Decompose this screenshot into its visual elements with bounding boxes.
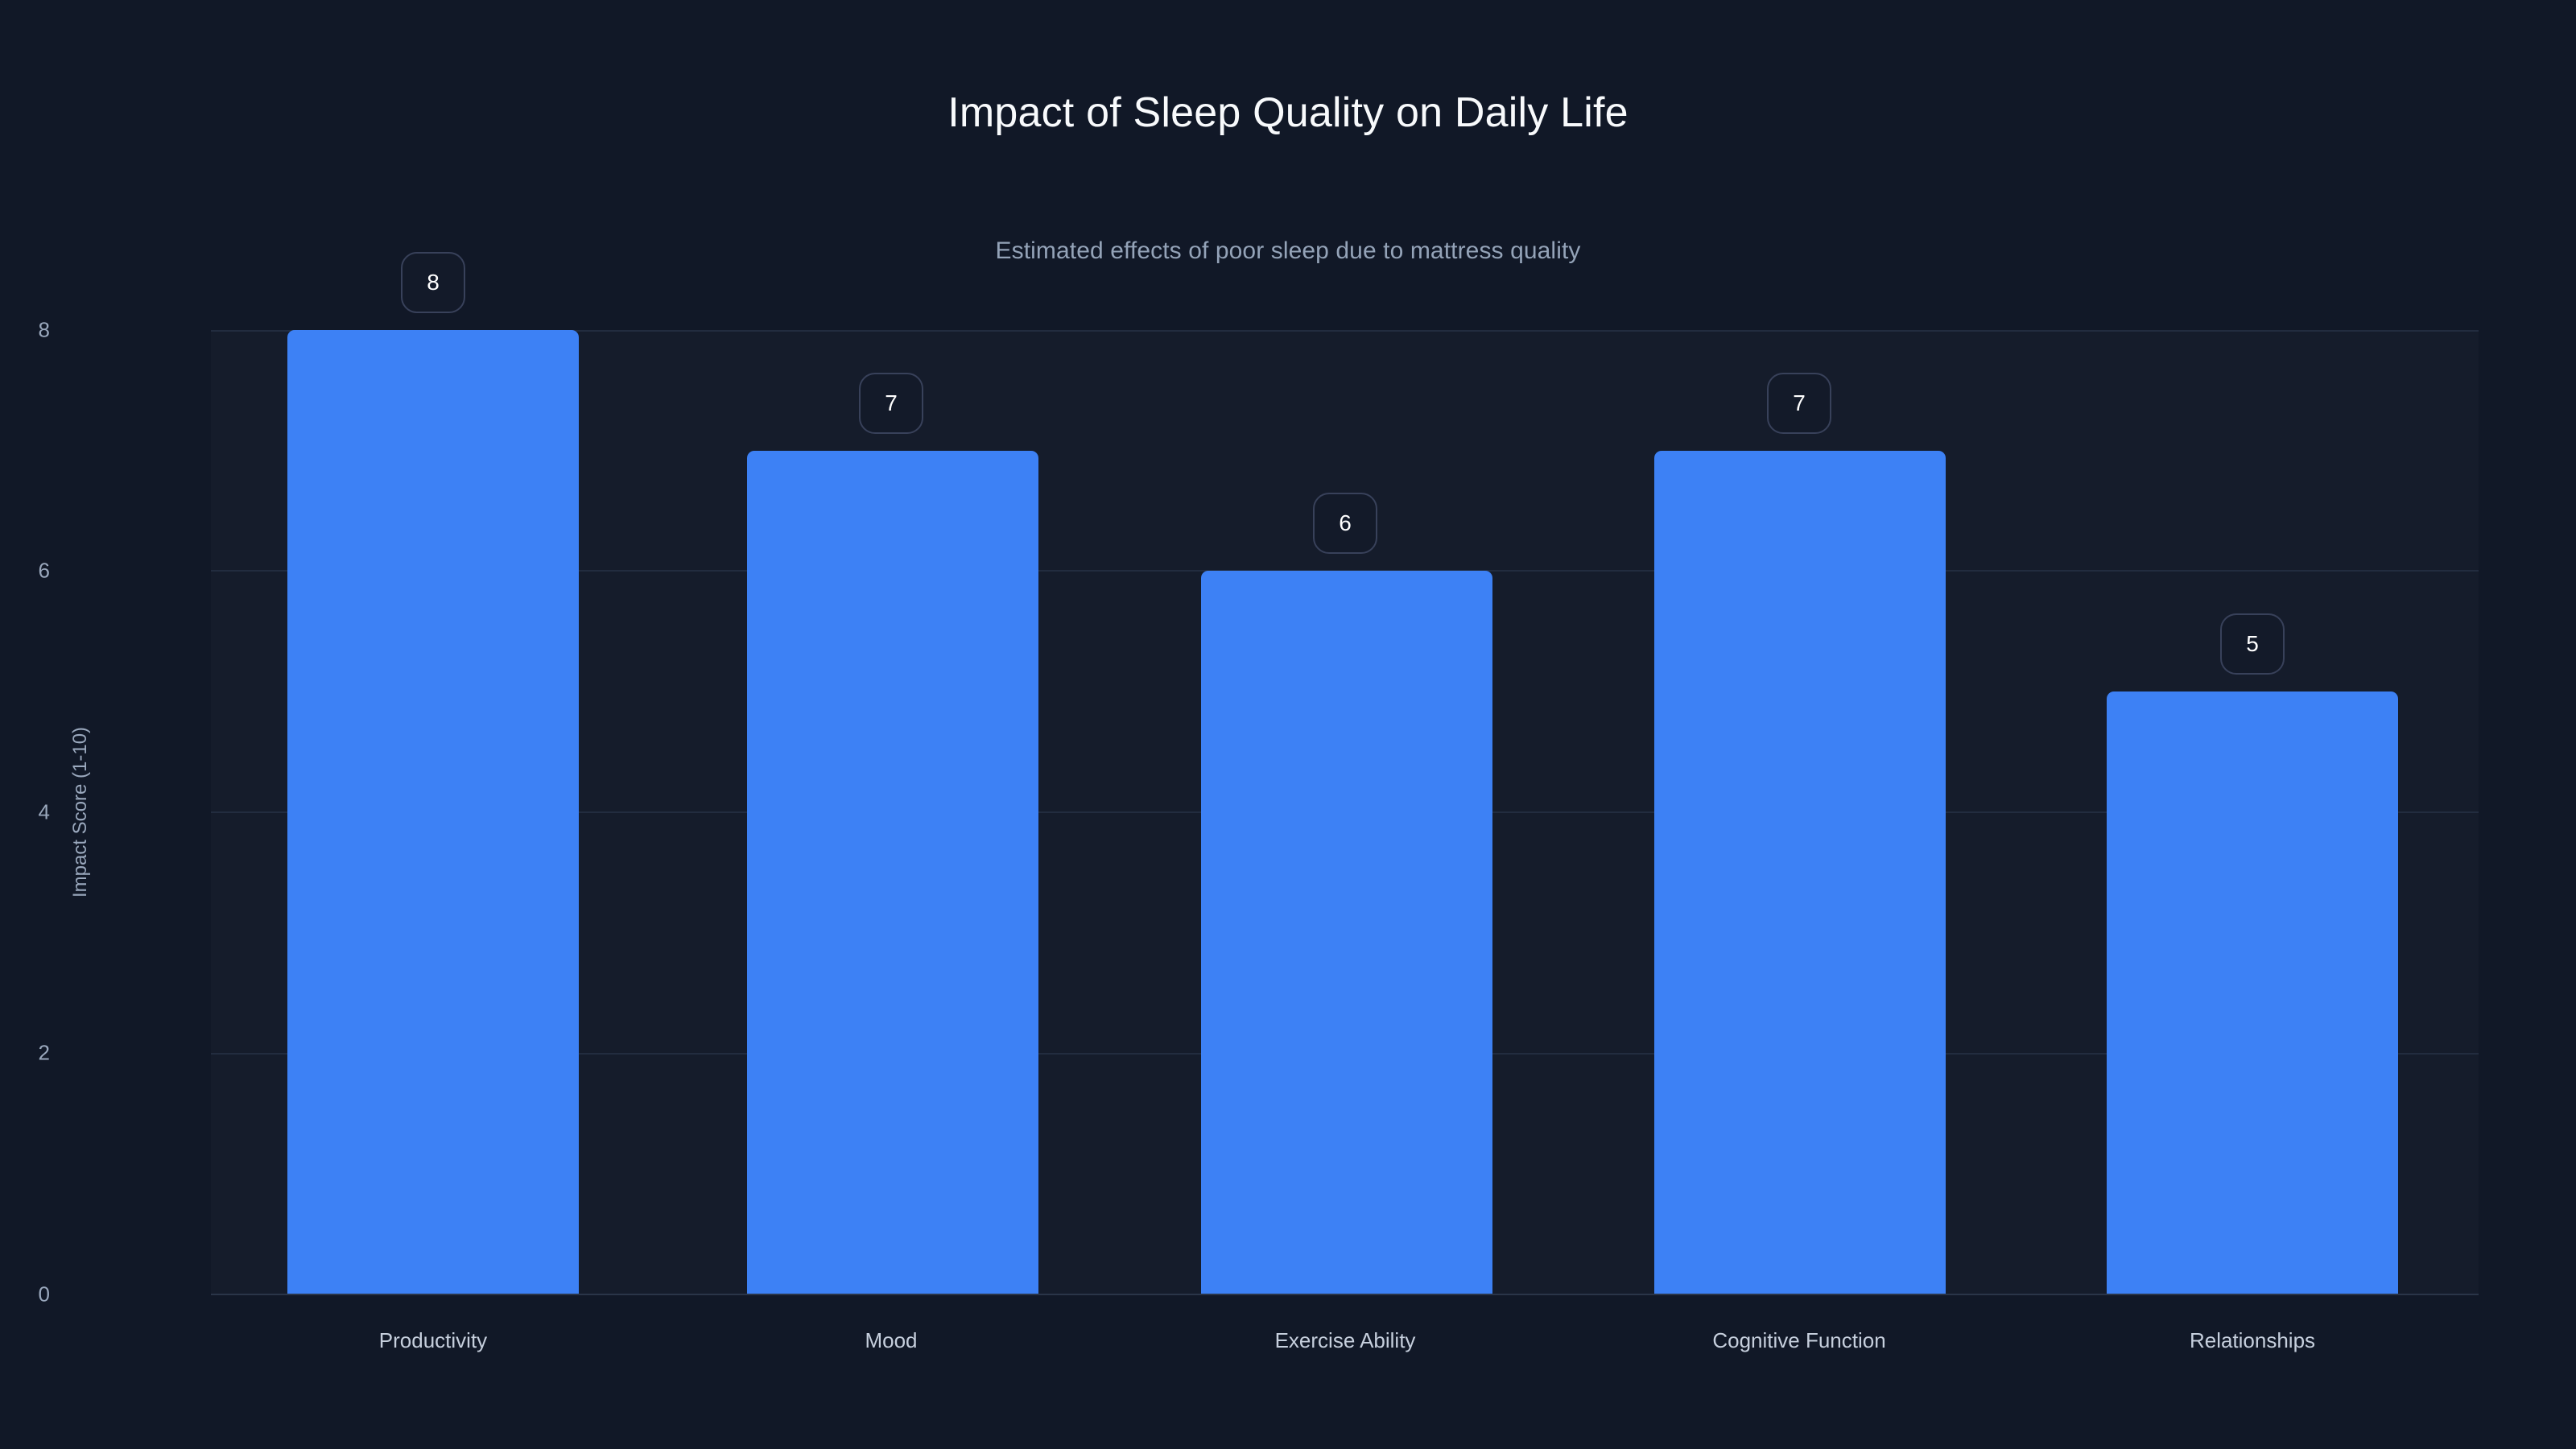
y-tick-2: 2 xyxy=(0,1041,50,1066)
bar-exercise-ability[interactable] xyxy=(1201,571,1492,1294)
bar-productivity[interactable] xyxy=(287,330,579,1294)
bar-mood[interactable] xyxy=(747,451,1038,1294)
chart-figure: Impact of Sleep Quality on Daily Life Es… xyxy=(0,0,2576,1449)
plot-area xyxy=(211,330,2479,1294)
x-axis-baseline xyxy=(211,1294,2479,1295)
y-tick-4: 4 xyxy=(0,800,50,825)
chart-title: Impact of Sleep Quality on Daily Life xyxy=(0,89,2576,137)
value-badge-productivity: 8 xyxy=(401,252,465,313)
x-tick-productivity: Productivity xyxy=(224,1328,642,1353)
value-badge-relationships: 5 xyxy=(2220,613,2285,675)
y-tick-6: 6 xyxy=(0,559,50,584)
x-tick-mood: Mood xyxy=(682,1328,1100,1353)
x-tick-relationships: Relationships xyxy=(2043,1328,2462,1353)
y-tick-8: 8 xyxy=(0,318,50,343)
y-tick-0: 0 xyxy=(0,1282,50,1307)
bar-relationships[interactable] xyxy=(2107,691,2398,1294)
x-tick-exercise-ability: Exercise Ability xyxy=(1136,1328,1554,1353)
value-badge-mood: 7 xyxy=(859,373,923,434)
bar-cognitive-function[interactable] xyxy=(1654,451,1946,1294)
value-badge-exercise-ability: 6 xyxy=(1313,493,1377,554)
x-tick-cognitive-function: Cognitive Function xyxy=(1590,1328,2008,1353)
chart-subtitle: Estimated effects of poor sleep due to m… xyxy=(0,237,2576,265)
value-badge-cognitive-function: 7 xyxy=(1767,373,1831,434)
y-axis-label: Impact Score (1-10) xyxy=(69,727,92,898)
